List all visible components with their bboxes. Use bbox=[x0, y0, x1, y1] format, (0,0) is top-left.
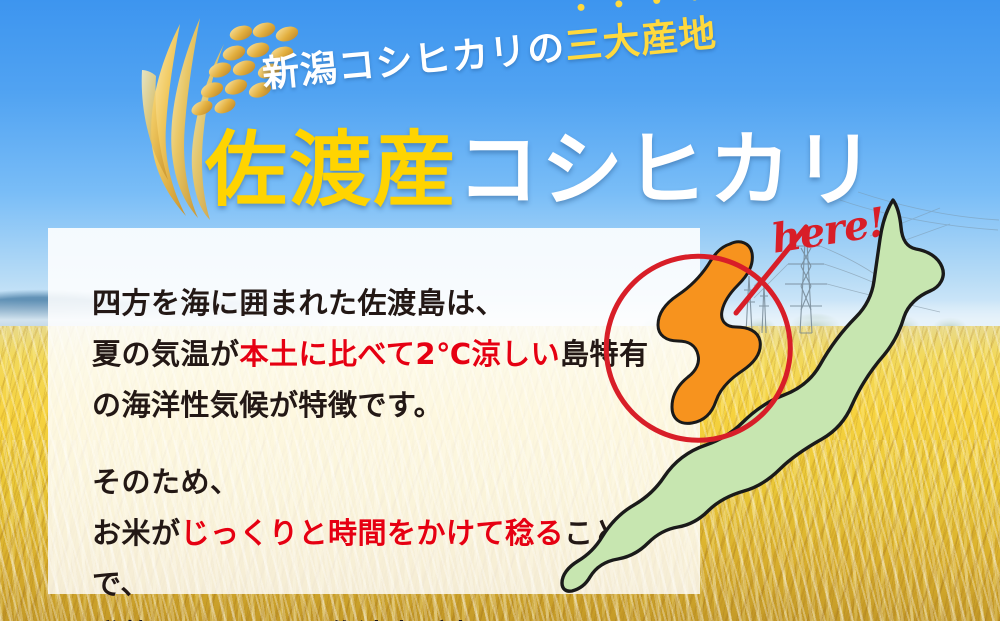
rice-ear-icon bbox=[128, 8, 298, 223]
p2l2-pre: お米が bbox=[92, 516, 181, 550]
p1l2-pre: 夏の気温が bbox=[92, 337, 240, 371]
p1l2-emphasis: 本土に比べて2℃涼しい bbox=[240, 337, 561, 371]
p2l2-emphasis: じっくりと時間をかけて稔る bbox=[181, 516, 565, 550]
sado-koshihikari-banner: 新潟コシヒカリの三大産地 佐渡産コシヒカリ 四方を海に囲まれた佐渡島は、 夏の気… bbox=[0, 0, 1000, 621]
